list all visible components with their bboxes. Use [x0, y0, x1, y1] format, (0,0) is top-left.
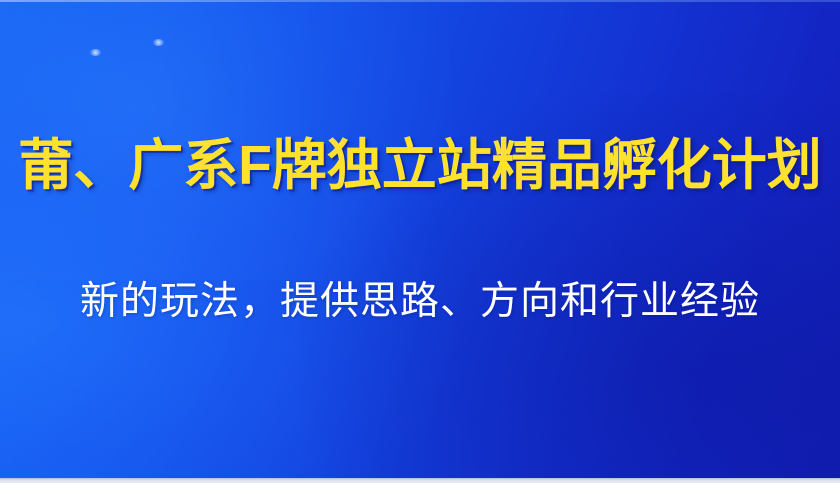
banner-headline: 莆、广系F牌独立站精品孵化计划 [0, 133, 840, 197]
banner-subheadline: 新的玩法，提供思路、方向和行业经验 [0, 277, 840, 327]
top-edge-highlight [0, 0, 840, 2]
promo-banner: 莆、广系F牌独立站精品孵化计划 新的玩法，提供思路、方向和行业经验 [0, 0, 840, 483]
background-gradient [0, 0, 840, 478]
page-bottom-strip [0, 478, 840, 483]
